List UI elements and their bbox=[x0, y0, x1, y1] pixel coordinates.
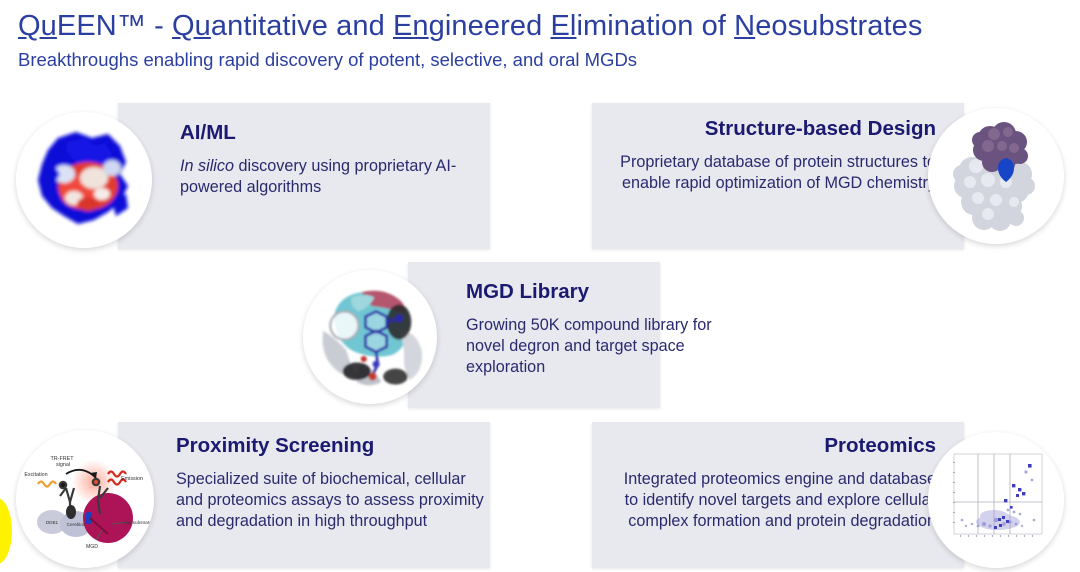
card-body-italic-lead: In silico bbox=[180, 157, 234, 175]
title-segment: El bbox=[550, 10, 576, 42]
svg-text:Emission: Emission bbox=[121, 476, 143, 482]
svg-text:MGD: MGD bbox=[86, 544, 98, 550]
title-segment: Qu bbox=[172, 10, 211, 42]
page-subtitle: Breakthroughs enabling rapid discovery o… bbox=[18, 49, 1058, 71]
card-proteomics[interactable]: Proteomics Integrated proteomics engine … bbox=[592, 422, 964, 568]
title-segment: eosubstrates bbox=[755, 10, 922, 42]
card-proximity-screening[interactable]: Proximity Screening Specialized suite of… bbox=[118, 422, 490, 568]
title-segment: antitative and bbox=[211, 10, 393, 42]
card-body-mgd-library: Growing 50K compound library for novel d… bbox=[466, 315, 738, 379]
header: QuEEN™ - Quantitative and Engineered Eli… bbox=[18, 10, 1058, 71]
card-title-ai-ml: AI/ML bbox=[180, 121, 472, 146]
card-title-proximity-screening: Proximity Screening bbox=[176, 434, 492, 459]
protein-complex-spacefill-image bbox=[928, 108, 1064, 244]
page-title: QuEEN™ - Quantitative and Engineered Eli… bbox=[18, 10, 1058, 43]
card-title-structure-based-design: Structure-based Design bbox=[614, 117, 936, 142]
yellow-accent-arc bbox=[0, 498, 12, 564]
card-body-proximity-screening: Specialized suite of biochemical, cellul… bbox=[176, 469, 492, 533]
volcano-plot-image bbox=[928, 432, 1064, 568]
card-title-proteomics: Proteomics bbox=[610, 434, 936, 459]
card-mgd-library[interactable]: MGD Library Growing 50K compound library… bbox=[408, 262, 660, 408]
svg-text:Excitation: Excitation bbox=[24, 472, 47, 478]
card-body-proteomics: Integrated proteomics engine and databas… bbox=[610, 469, 936, 533]
svg-text:signal: signal bbox=[56, 462, 70, 468]
title-segment: gineered bbox=[429, 10, 551, 42]
card-ai-ml[interactable]: AI/ML In silico discovery using propriet… bbox=[118, 103, 490, 249]
title-segment: Qu bbox=[18, 10, 57, 42]
card-title-mgd-library: MGD Library bbox=[466, 280, 738, 305]
card-body-ai-ml: In silico discovery using proprietary AI… bbox=[180, 156, 472, 199]
title-segment: N bbox=[734, 10, 755, 42]
molecule-binding-pocket-image bbox=[303, 270, 437, 404]
svg-text:Neosubstrate: Neosubstrate bbox=[124, 520, 152, 525]
title-segment: EEN™ - bbox=[57, 10, 172, 42]
card-body-structure-based-design: Proprietary database of protein structur… bbox=[614, 152, 936, 195]
svg-text:DDB1: DDB1 bbox=[46, 520, 59, 525]
title-segment: imination of bbox=[576, 10, 734, 42]
svg-text:Cereblon: Cereblon bbox=[67, 522, 86, 527]
tr-fret-assay-schematic-image: TR-FRET signal Excitation Emission DDB1 … bbox=[16, 430, 154, 568]
card-structure-based-design[interactable]: Structure-based Design Proprietary datab… bbox=[592, 103, 964, 249]
protein-electrostatic-surface-image bbox=[16, 112, 152, 248]
title-segment: En bbox=[393, 10, 429, 42]
